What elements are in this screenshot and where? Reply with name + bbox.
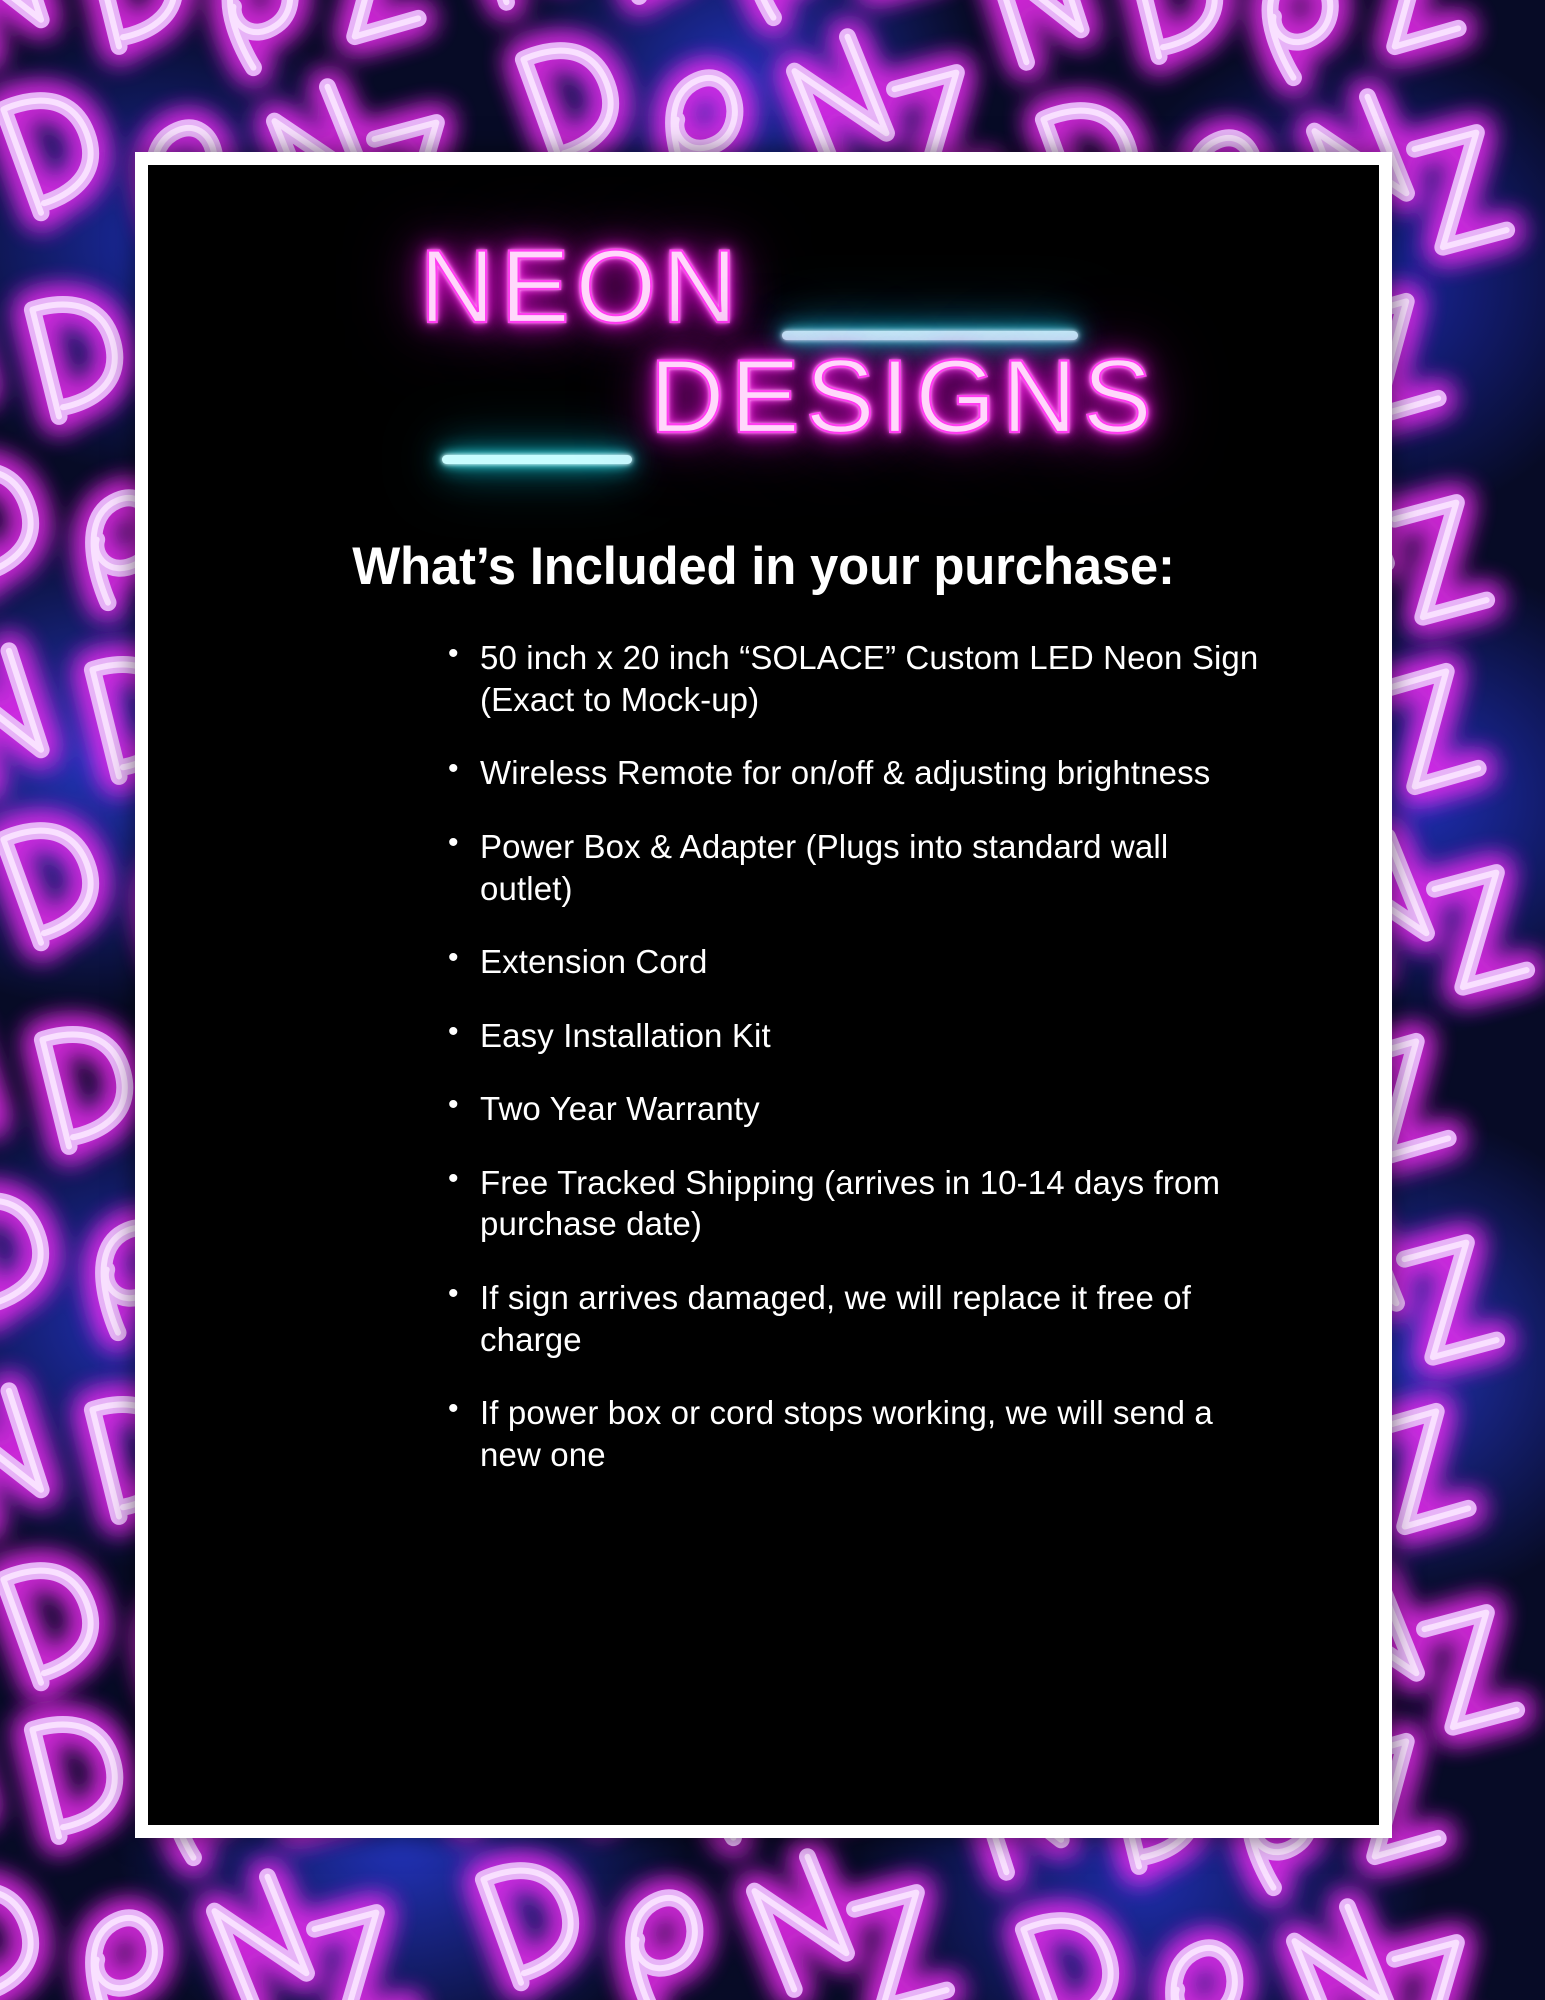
poster-page: NEON DESIGNS What’s Included in your pur… <box>0 0 1545 2000</box>
list-item: 50 inch x 20 inch “SOLACE” Custom LED Ne… <box>448 637 1259 720</box>
cyan-neon-bar-bottom-icon <box>442 455 632 464</box>
list-item-label: Easy Installation Kit <box>480 1017 771 1054</box>
page-title: What’s Included in your purchase: <box>173 538 1355 595</box>
list-item: Easy Installation Kit <box>448 1015 1259 1057</box>
poster-card-frame: NEON DESIGNS What’s Included in your pur… <box>135 152 1392 1838</box>
list-item: Two Year Warranty <box>448 1088 1259 1130</box>
list-item-label: Wireless Remote for on/off & adjusting b… <box>480 754 1210 791</box>
brand-logo: NEON DESIGNS <box>148 227 1379 472</box>
list-item: Power Box & Adapter (Plugs into standard… <box>448 826 1259 909</box>
list-item: If power box or cord stops working, we w… <box>448 1392 1259 1475</box>
list-item-label: Free Tracked Shipping (arrives in 10-14 … <box>480 1164 1220 1243</box>
list-item-label: Two Year Warranty <box>480 1090 760 1127</box>
list-item: Free Tracked Shipping (arrives in 10-14 … <box>448 1162 1259 1245</box>
logo-word-neon: NEON <box>420 235 743 339</box>
list-item-label: Power Box & Adapter (Plugs into standard… <box>480 828 1168 907</box>
list-item-label: If sign arrives damaged, we will replace… <box>480 1279 1191 1358</box>
list-item-label: Extension Cord <box>480 943 707 980</box>
poster-card: NEON DESIGNS What’s Included in your pur… <box>148 165 1379 1825</box>
list-item: Wireless Remote for on/off & adjusting b… <box>448 752 1259 794</box>
list-item: Extension Cord <box>448 941 1259 983</box>
list-item-label: If power box or cord stops working, we w… <box>480 1394 1213 1473</box>
logo-word-designs: DESIGNS <box>650 345 1158 449</box>
list-item: If sign arrives damaged, we will replace… <box>448 1277 1259 1360</box>
list-item-label: 50 inch x 20 inch “SOLACE” Custom LED Ne… <box>480 639 1258 718</box>
included-items-list: 50 inch x 20 inch “SOLACE” Custom LED Ne… <box>148 637 1379 1475</box>
